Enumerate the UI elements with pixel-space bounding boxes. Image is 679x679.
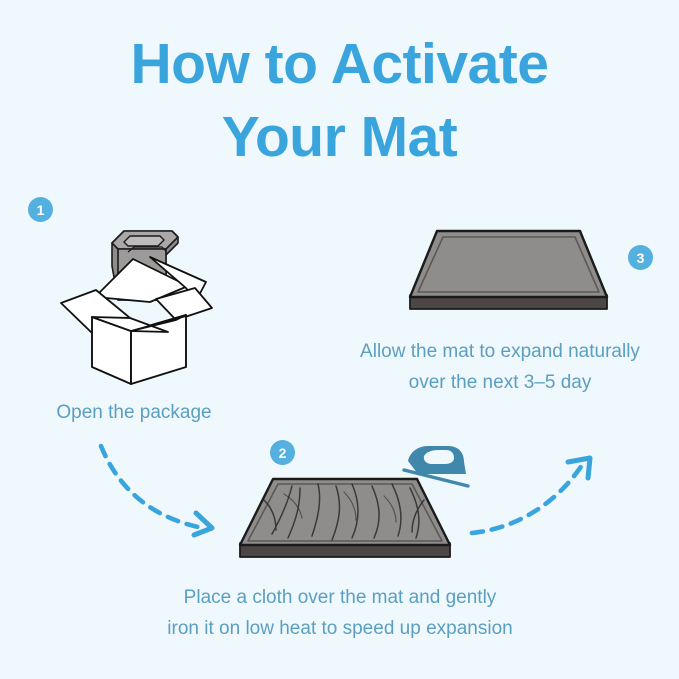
step-badge-1: 1 <box>28 197 53 222</box>
flat-mat-icon <box>410 231 607 309</box>
step-badge-2: 2 <box>270 440 295 465</box>
step-caption-2-line-2: iron it on low heat to speed up expansio… <box>120 614 560 645</box>
dashed-curved-arrow-up-right-icon <box>472 458 590 533</box>
step-caption-1-line-1: Open the package <box>0 398 268 429</box>
step-caption-1: Open the package <box>0 398 268 429</box>
folded-mat-shape <box>112 231 178 300</box>
title-line-2: Your Mat <box>0 101 679 174</box>
step-caption-2-line-1: Place a cloth over the mat and gently <box>120 583 560 614</box>
cardboard-box-icon <box>61 231 212 384</box>
step-caption-3-line-2: over the next 3–5 day <box>320 368 679 399</box>
page-title: How to Activate Your Mat <box>0 28 679 174</box>
step-caption-3: Allow the mat to expand naturally over t… <box>320 337 679 399</box>
dashed-curved-arrow-down-right-icon <box>101 446 212 535</box>
title-line-1: How to Activate <box>0 28 679 101</box>
iron-icon <box>404 446 468 486</box>
step-badge-3: 3 <box>628 245 653 270</box>
step-caption-3-line-1: Allow the mat to expand naturally <box>320 337 679 368</box>
infographic-canvas: How to Activate Your Mat <box>0 0 679 679</box>
step-caption-2: Place a cloth over the mat and gently ir… <box>120 583 560 645</box>
wrinkled-mat-icon <box>240 479 450 557</box>
